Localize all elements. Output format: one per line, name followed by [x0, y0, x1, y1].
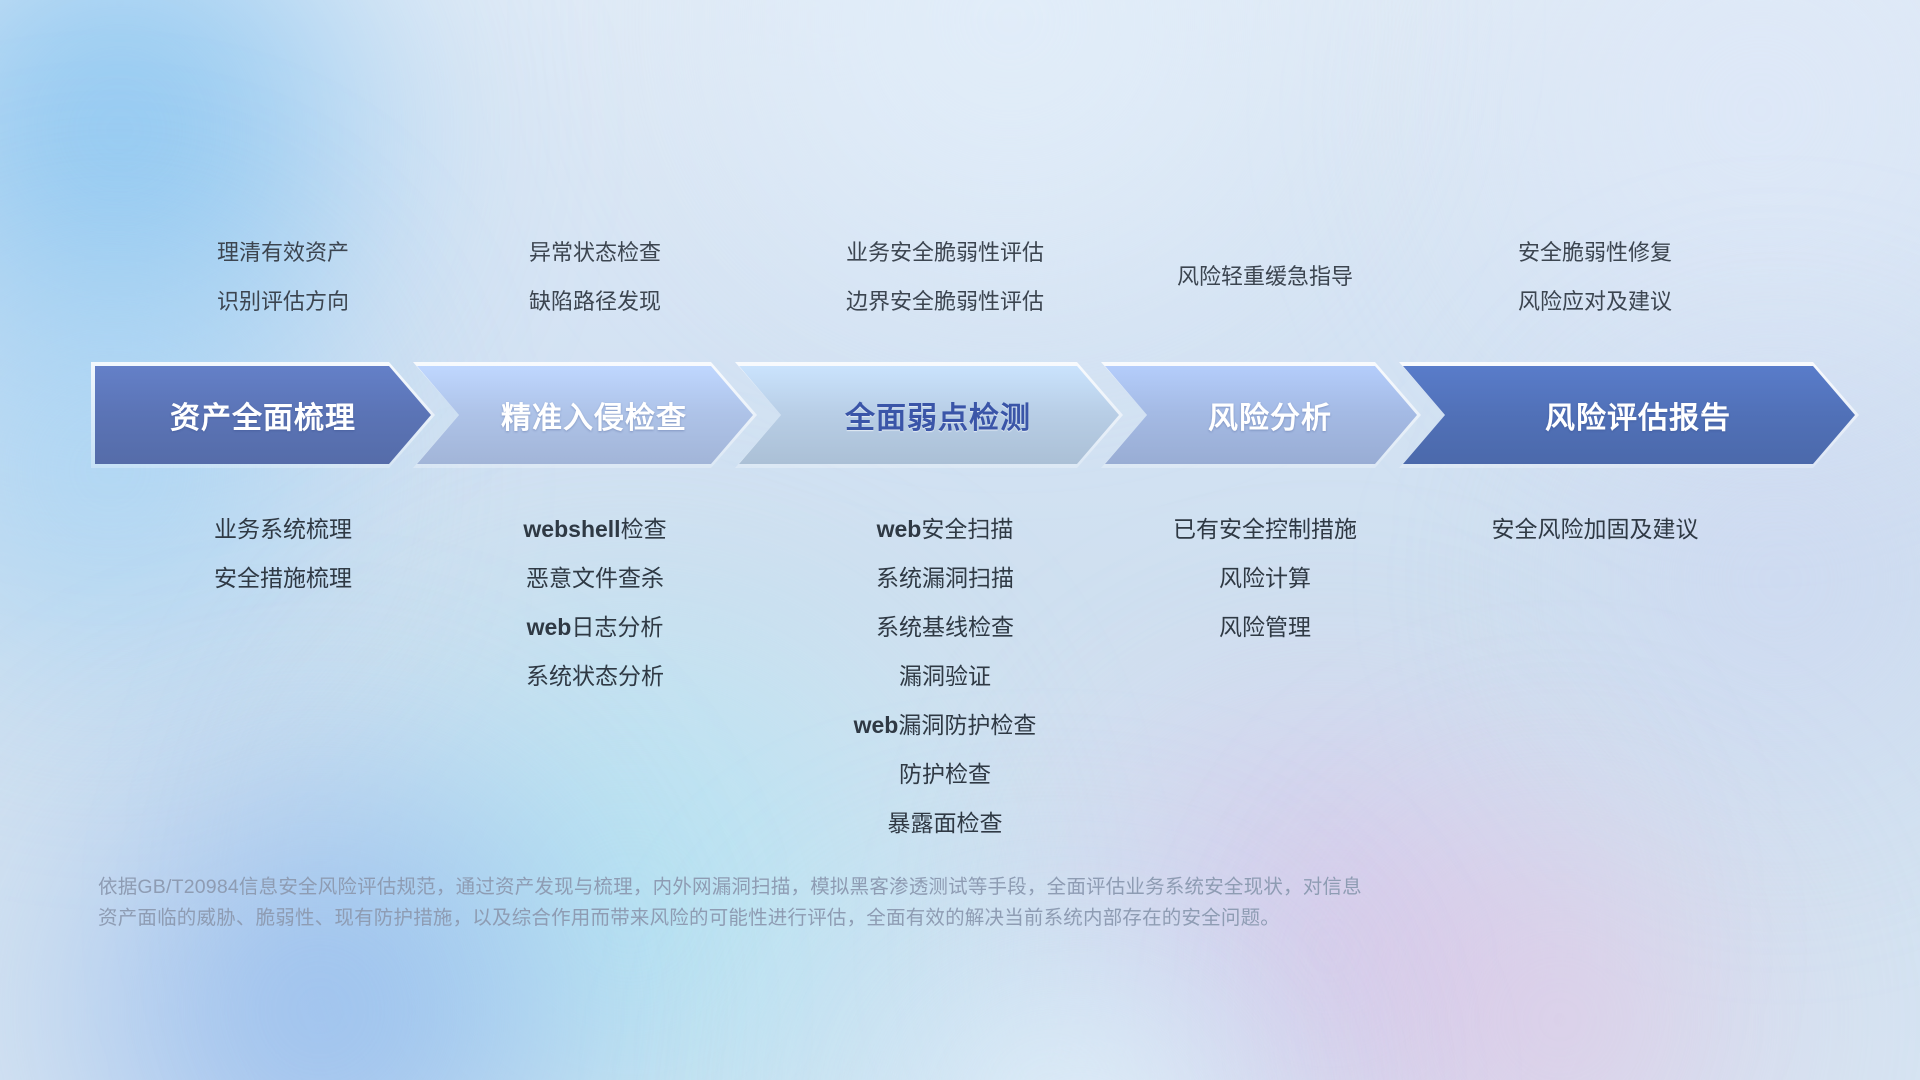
- stage-output-item: 恶意文件查杀: [435, 554, 755, 603]
- process-stage-4[interactable]: 风险分析: [1105, 366, 1417, 464]
- stage-output-item-keyword: web: [854, 712, 899, 738]
- process-chevron-band: 资产全面梳理精准入侵检查全面弱点检测风险分析风险评估报告: [95, 366, 1855, 464]
- stage-output-item: webshell检查: [435, 505, 755, 554]
- stage-output-item-keyword: webshell: [523, 516, 620, 542]
- stage-input-item: 识别评估方向: [133, 277, 433, 326]
- stage-output-column: 已有安全控制措施风险计算风险管理: [1115, 505, 1415, 652]
- stage-output-item: 风险管理: [1115, 603, 1415, 652]
- stage-input-column: 业务安全脆弱性评估边界安全脆弱性评估: [775, 228, 1115, 326]
- stage-output-item: 安全风险加固及建议: [1430, 505, 1760, 554]
- stage-input-item: 安全脆弱性修复: [1430, 228, 1760, 277]
- stage-inputs-row: 理清有效资产识别评估方向异常状态检查缺陷路径发现业务安全脆弱性评估边界安全脆弱性…: [95, 228, 1855, 328]
- slide-canvas: 理清有效资产识别评估方向异常状态检查缺陷路径发现业务安全脆弱性评估边界安全脆弱性…: [0, 0, 1920, 1080]
- process-stage-1[interactable]: 资产全面梳理: [95, 366, 431, 464]
- process-stage-label: 全面弱点检测: [827, 393, 1031, 437]
- process-stage-label: 风险评估报告: [1527, 393, 1731, 437]
- stage-output-item: web日志分析: [435, 603, 755, 652]
- stage-output-item: web安全扫描: [775, 505, 1115, 554]
- stage-input-column: 异常状态检查缺陷路径发现: [435, 228, 755, 326]
- stage-input-item: 边界安全脆弱性评估: [775, 277, 1115, 326]
- stage-output-item: 风险计算: [1115, 554, 1415, 603]
- stage-output-item: 漏洞验证: [775, 652, 1115, 701]
- footer-line-2: 资产面临的威胁、脆弱性、现有防护措施，以及综合作用而带来风险的可能性进行评估，全…: [98, 903, 1628, 934]
- stage-output-item-keyword: web: [527, 614, 572, 640]
- stage-input-item: 业务安全脆弱性评估: [775, 228, 1115, 277]
- stage-output-item: web漏洞防护检查: [775, 701, 1115, 750]
- stage-output-item: 业务系统梳理: [133, 505, 433, 554]
- stage-input-column: 风险轻重缓急指导: [1115, 252, 1415, 301]
- stage-output-item: 系统基线检查: [775, 603, 1115, 652]
- stage-output-item: 暴露面检查: [775, 799, 1115, 848]
- process-stage-label: 精准入侵检查: [483, 393, 687, 437]
- stage-output-column: 安全风险加固及建议: [1430, 505, 1760, 554]
- stage-output-column: webshell检查恶意文件查杀web日志分析系统状态分析: [435, 505, 755, 701]
- stage-output-item: 防护检查: [775, 750, 1115, 799]
- stage-input-item: 异常状态检查: [435, 228, 755, 277]
- stage-output-item: 系统漏洞扫描: [775, 554, 1115, 603]
- process-stage-5[interactable]: 风险评估报告: [1403, 366, 1855, 464]
- stage-output-item-keyword: web: [877, 516, 922, 542]
- stage-input-item: 缺陷路径发现: [435, 277, 755, 326]
- stage-input-column: 理清有效资产识别评估方向: [133, 228, 433, 326]
- footer-description: 依据GB/T20984信息安全风险评估规范，通过资产发现与梳理，内外网漏洞扫描，…: [98, 872, 1628, 934]
- stage-input-item: 理清有效资产: [133, 228, 433, 277]
- footer-line-1: 依据GB/T20984信息安全风险评估规范，通过资产发现与梳理，内外网漏洞扫描，…: [98, 872, 1628, 903]
- process-stage-label: 风险分析: [1190, 393, 1332, 437]
- stage-input-column: 安全脆弱性修复风险应对及建议: [1430, 228, 1760, 326]
- stage-output-item: 系统状态分析: [435, 652, 755, 701]
- stage-output-item: 已有安全控制措施: [1115, 505, 1415, 554]
- stage-output-item: 安全措施梳理: [133, 554, 433, 603]
- stage-output-column: 业务系统梳理安全措施梳理: [133, 505, 433, 603]
- process-stage-2[interactable]: 精准入侵检查: [417, 366, 753, 464]
- stage-input-item: 风险应对及建议: [1430, 277, 1760, 326]
- process-stage-label: 资产全面梳理: [170, 393, 356, 437]
- process-stage-3[interactable]: 全面弱点检测: [739, 366, 1119, 464]
- stage-output-column: web安全扫描系统漏洞扫描系统基线检查漏洞验证web漏洞防护检查防护检查暴露面检…: [775, 505, 1115, 848]
- stage-input-item: 风险轻重缓急指导: [1115, 252, 1415, 301]
